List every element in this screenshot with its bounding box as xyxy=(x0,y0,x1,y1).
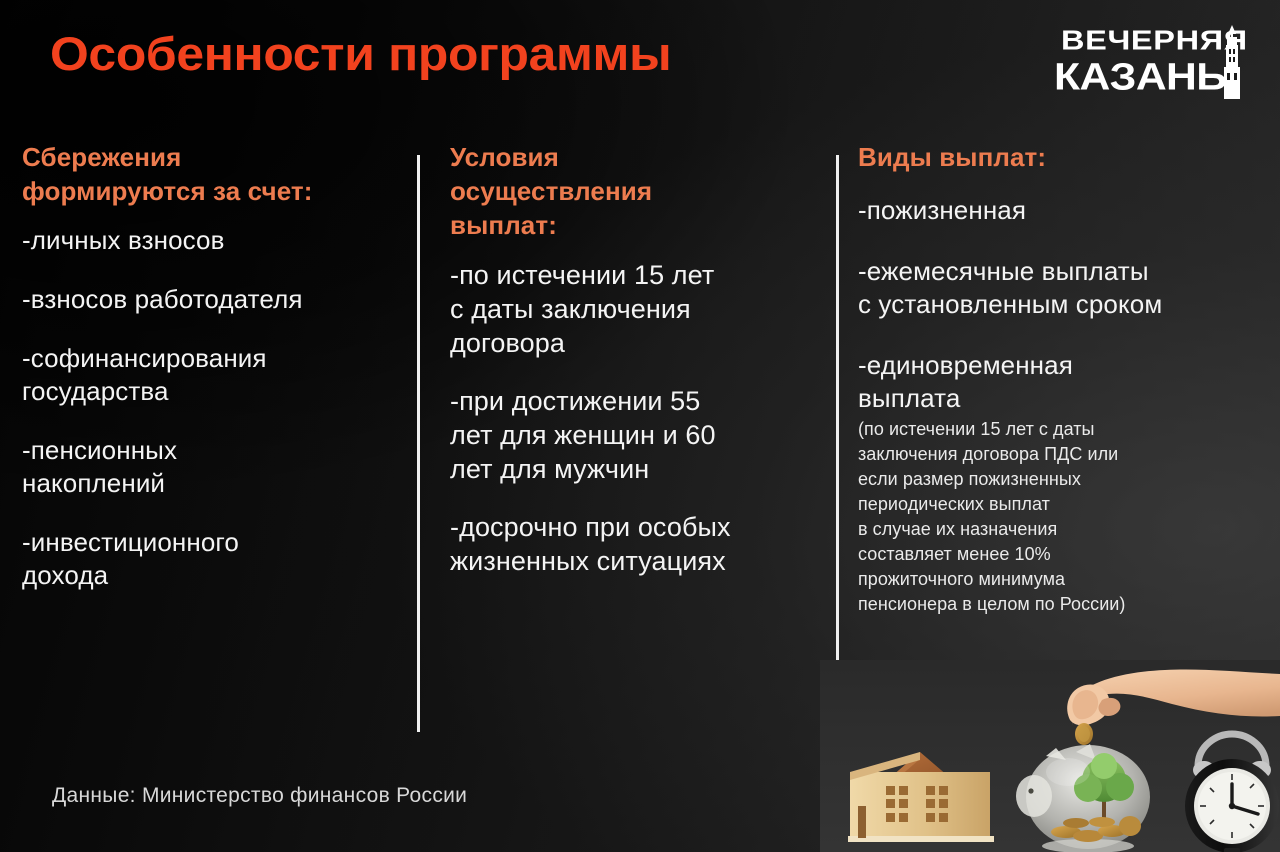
list-item: -ежемесячные выплаты с установленным сро… xyxy=(858,255,1260,321)
list-item: -досрочно при особых жизненных ситуациях xyxy=(450,510,812,578)
list-item: -единовременная выплата xyxy=(858,349,1260,415)
publication-logo: ВЕЧЕРНЯЯ КАЗАНЬ xyxy=(1054,26,1244,102)
list-item: -пожизненная xyxy=(858,194,1260,227)
logo-line-vechernyaya: ВЕЧЕРНЯЯ xyxy=(1061,26,1280,56)
fineprint-note: (по истечении 15 лет с даты заключения д… xyxy=(858,417,1260,617)
header: Особенности программы ВЕЧЕРНЯЯ КАЗАНЬ xyxy=(0,0,1280,128)
column-heading: Сбережения формируются за счет: xyxy=(22,140,392,208)
logo-line-kazan: КАЗАНЬ xyxy=(1054,58,1280,97)
list-item: -взносов работодателя xyxy=(22,283,392,316)
page-title: Особенности программы xyxy=(50,26,671,82)
column-payout-conditions: Условия осуществления выплат: -по истече… xyxy=(450,140,812,602)
tower-icon xyxy=(1222,25,1242,99)
column-savings-sources: Сбережения формируются за счет: -личных … xyxy=(22,140,392,618)
column-payout-types: Виды выплат: -пожизненная -ежемесячные в… xyxy=(858,140,1260,617)
column-heading: Условия осуществления выплат: xyxy=(450,140,812,242)
data-source-caption: Данные: Министерство финансов России xyxy=(52,783,467,809)
list-item: -пенсионных накоплений xyxy=(22,434,392,500)
infographic-poster: Особенности программы ВЕЧЕРНЯЯ КАЗАНЬ xyxy=(0,0,1280,852)
list-item: -личных взносов xyxy=(22,224,392,257)
savings-photo xyxy=(820,660,1280,852)
list-item: -при достижении 55 лет для женщин и 60 л… xyxy=(450,384,812,486)
list-item: -инвестиционного дохода xyxy=(22,526,392,592)
list-item: -по истечении 15 лет с даты заключения д… xyxy=(450,258,812,360)
savings-illustration xyxy=(820,660,1280,852)
content-columns: Сбережения формируются за счет: -личных … xyxy=(0,140,1280,740)
column-heading: Виды выплат: xyxy=(858,140,1260,174)
list-item: -софинансирования государства xyxy=(22,342,392,408)
